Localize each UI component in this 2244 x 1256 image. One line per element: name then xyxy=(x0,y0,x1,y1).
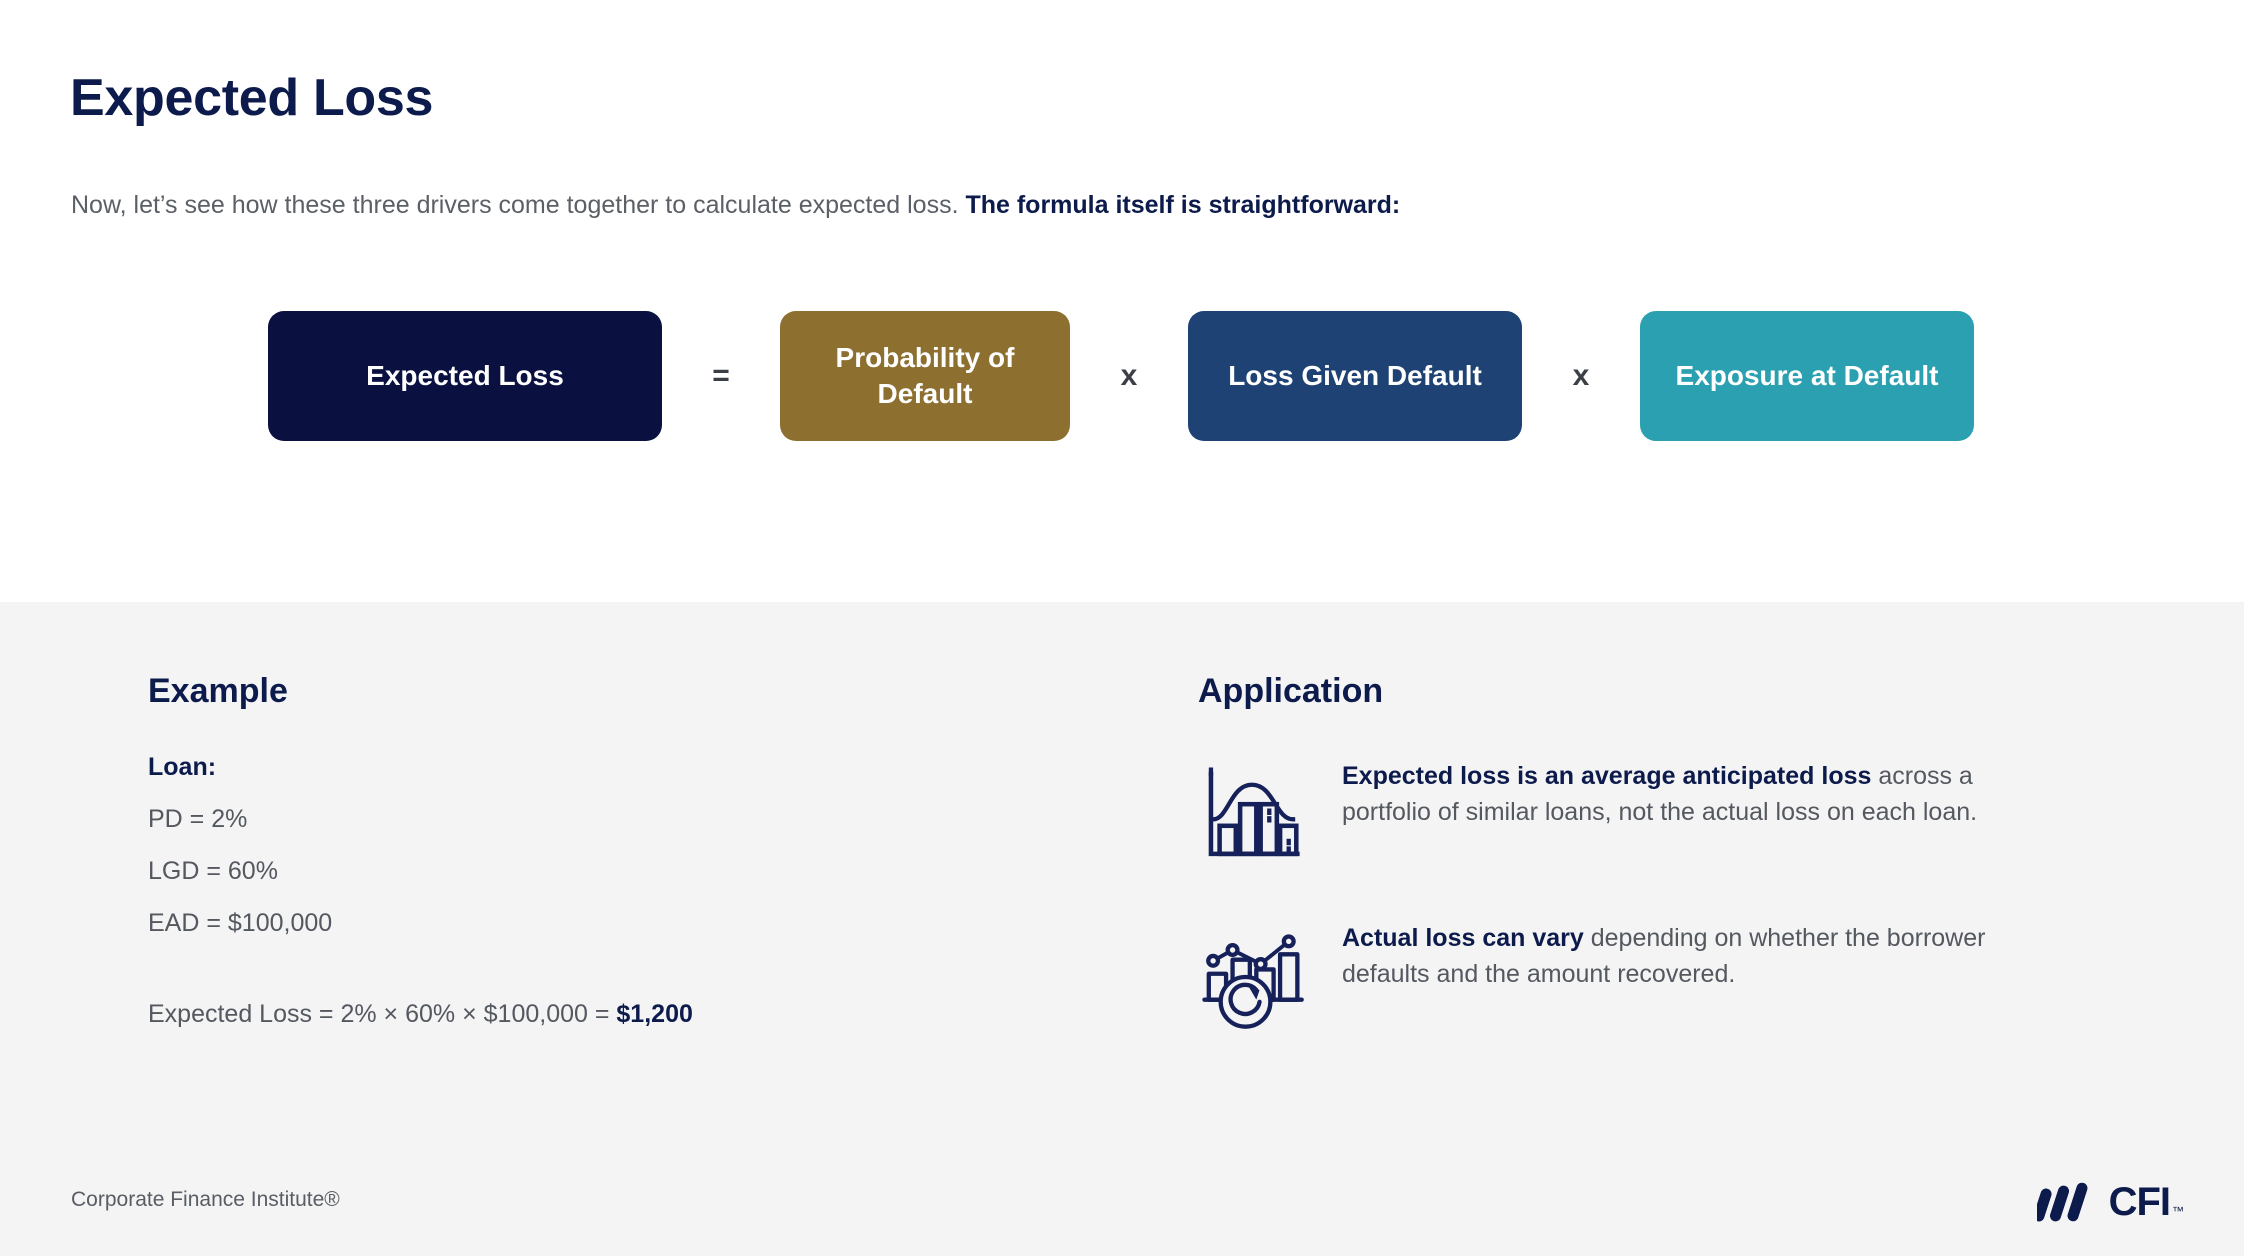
example-column: Example Loan: PD = 2% LGD = 60% EAD = $1… xyxy=(148,672,1048,1029)
formula-box-exposure-at-default: Exposure at Default xyxy=(1640,311,1974,441)
page-title: Expected Loss xyxy=(70,70,433,127)
application-bullet-2-text: Actual loss can vary depending on whethe… xyxy=(1342,921,2002,992)
formula-box-loss-given-default: Loss Given Default xyxy=(1188,311,1522,441)
cfi-logo: CFI ™ xyxy=(2037,1182,2184,1222)
loan-line-pd: PD = 2% xyxy=(148,805,1048,834)
example-heading: Example xyxy=(148,672,1048,711)
expected-loss-expression: Expected Loss = 2% × 60% × $100,000 = xyxy=(148,1000,616,1028)
formula-row: Expected Loss = Probability of Default x… xyxy=(268,311,1974,441)
intro-text-normal: Now, let’s see how these three drivers c… xyxy=(71,191,965,219)
intro-paragraph: Now, let’s see how these three drivers c… xyxy=(71,189,1400,223)
formula-operator-multiply-1: x xyxy=(1070,359,1188,393)
application-heading: Application xyxy=(1198,672,2098,711)
formula-operator-multiply-2: x xyxy=(1522,359,1640,393)
application-bullet-1-text: Expected loss is an average anticipated … xyxy=(1342,759,2002,830)
loan-line-lgd: LGD = 60% xyxy=(148,857,1048,886)
intro-text-emphasis: The formula itself is straightforward: xyxy=(965,191,1400,219)
formula-operator-equals: = xyxy=(662,359,780,393)
expected-loss-value: $1,200 xyxy=(616,1000,692,1028)
formula-box-loss-given-default-label: Loss Given Default xyxy=(1228,358,1482,394)
application-column: Application xyxy=(1198,672,2098,1083)
formula-box-expected-loss-label: Expected Loss xyxy=(366,358,564,394)
loan-line-ead: EAD = $100,000 xyxy=(148,909,1048,938)
formula-box-exposure-at-default-label: Exposure at Default xyxy=(1676,358,1939,394)
footer-brand-text: Corporate Finance Institute® xyxy=(71,1188,340,1212)
application-bullet-1-lead: Expected loss is an average anticipated … xyxy=(1342,762,1871,790)
application-bullet-2: Actual loss can vary depending on whethe… xyxy=(1198,921,2098,1031)
cfi-trademark-symbol: ™ xyxy=(2172,1204,2184,1218)
formula-box-probability-of-default: Probability of Default xyxy=(780,311,1070,441)
cfi-bars-icon xyxy=(2037,1182,2099,1222)
application-bullet-1: Expected loss is an average anticipated … xyxy=(1198,759,2098,869)
bar-chart-refresh-icon xyxy=(1198,923,1306,1031)
bottom-section: Example Loan: PD = 2% LGD = 60% EAD = $1… xyxy=(0,602,2244,1256)
loan-label: Loan: xyxy=(148,753,1048,782)
formula-box-expected-loss: Expected Loss xyxy=(268,311,662,441)
formula-box-probability-of-default-label: Probability of Default xyxy=(798,340,1052,412)
slide-root: Expected Loss Now, let’s see how these t… xyxy=(0,0,2244,1256)
application-bullet-2-lead: Actual loss can vary xyxy=(1342,924,1584,952)
top-section: Expected Loss Now, let’s see how these t… xyxy=(0,0,2244,602)
cfi-wordmark: CFI xyxy=(2109,1182,2170,1222)
histogram-bell-curve-icon xyxy=(1198,761,1306,869)
expected-loss-result: Expected Loss = 2% × 60% × $100,000 = $1… xyxy=(148,1000,1048,1029)
